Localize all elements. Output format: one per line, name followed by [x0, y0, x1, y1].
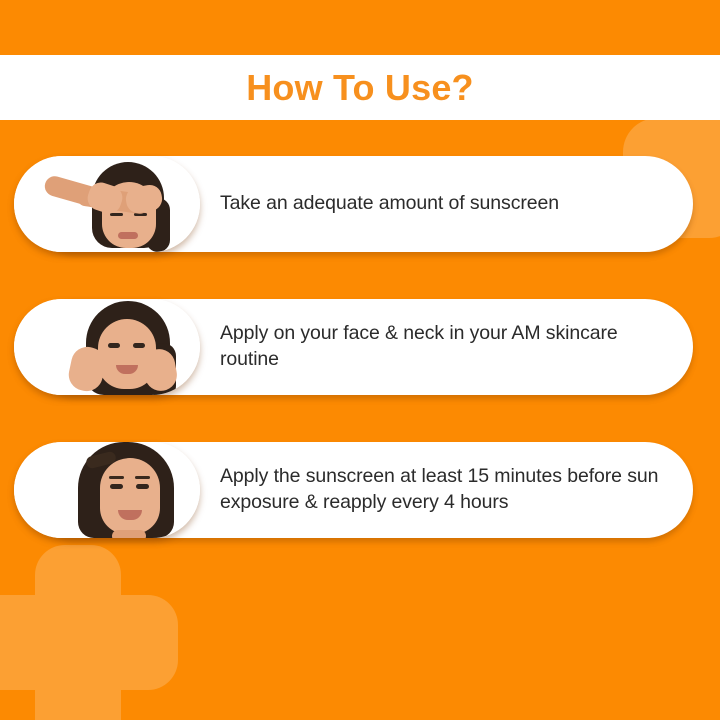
step-thumbnail-2 [14, 299, 200, 395]
step-text-3: Apply the sunscreen at least 15 minutes … [220, 464, 669, 515]
step-text-1: Take an adequate amount of sunscreen [220, 191, 559, 217]
page-title: How To Use? [246, 70, 474, 106]
smiling-woman-portrait-icon [14, 442, 200, 538]
step-text-2: Apply on your face & neck in your AM ski… [220, 321, 669, 372]
step-thumbnail-3 [14, 442, 200, 538]
list-item: Take an adequate amount of sunscreen [0, 156, 720, 252]
header-band: How To Use? [0, 55, 720, 120]
bottom-left-plus-shape-horizontal-decoration [0, 595, 178, 690]
how-to-use-poster: How To Use? Take an adequate amount of s… [0, 0, 720, 720]
woman-applying-cream-icon [14, 299, 200, 395]
steps-list: Take an adequate amount of sunscreen [0, 156, 720, 585]
list-item: Apply on your face & neck in your AM ski… [0, 299, 720, 395]
woman-shading-forehead-icon [14, 156, 200, 252]
list-item: Apply the sunscreen at least 15 minutes … [0, 442, 720, 538]
step-thumbnail-1 [14, 156, 200, 252]
